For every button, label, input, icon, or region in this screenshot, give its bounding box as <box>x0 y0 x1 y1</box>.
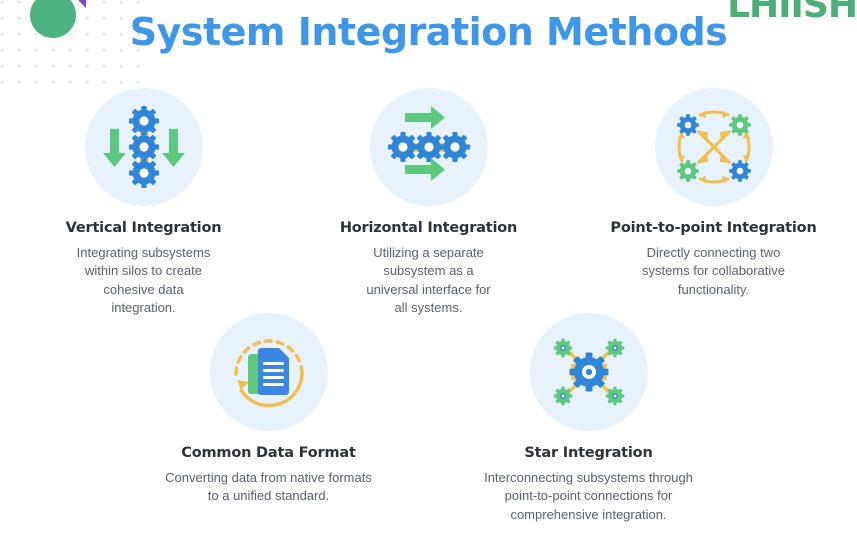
method-description: Utilizing a separate subsystem as a univ… <box>366 244 490 318</box>
method-description: Directly connecting two systems for coll… <box>642 244 785 299</box>
icon-circle <box>210 313 328 431</box>
method-card-horizontal-integration: Horizontal Integration Utilizing a separ… <box>286 88 571 318</box>
methods-row-bottom: Common Data Format Converting data from … <box>0 313 857 524</box>
method-title: Star Integration <box>524 445 652 461</box>
method-card-star-integration: Star Integration Interconnecting subsyst… <box>429 313 749 524</box>
icon-circle <box>85 88 203 206</box>
method-card-point-to-point-integration: Point-to-point Integration Directly conn… <box>571 88 856 318</box>
method-title: Vertical Integration <box>66 220 222 236</box>
method-description: Interconnecting subsystems through point… <box>484 469 693 524</box>
method-title: Common Data Format <box>181 445 355 461</box>
icon-circle <box>530 313 648 431</box>
star-integration-icon <box>543 326 635 418</box>
icon-circle <box>370 88 488 206</box>
method-card-vertical-integration: Vertical Integration Integrating subsyst… <box>1 88 286 318</box>
page-title: System Integration Methods <box>0 12 857 54</box>
horizontal-integration-icon <box>383 101 475 193</box>
point-to-point-integration-icon <box>668 101 760 193</box>
common-data-format-icon <box>223 326 315 418</box>
method-description: Converting data from native formats to a… <box>165 469 372 506</box>
method-description: Integrating subsystems within silos to c… <box>77 244 211 318</box>
methods-row-top: Vertical Integration Integrating subsyst… <box>0 88 857 318</box>
method-title: Horizontal Integration <box>340 220 517 236</box>
method-card-common-data-format: Common Data Format Converting data from … <box>109 313 429 524</box>
icon-circle <box>655 88 773 206</box>
method-title: Point-to-point Integration <box>610 220 816 236</box>
vertical-integration-icon <box>98 101 190 193</box>
